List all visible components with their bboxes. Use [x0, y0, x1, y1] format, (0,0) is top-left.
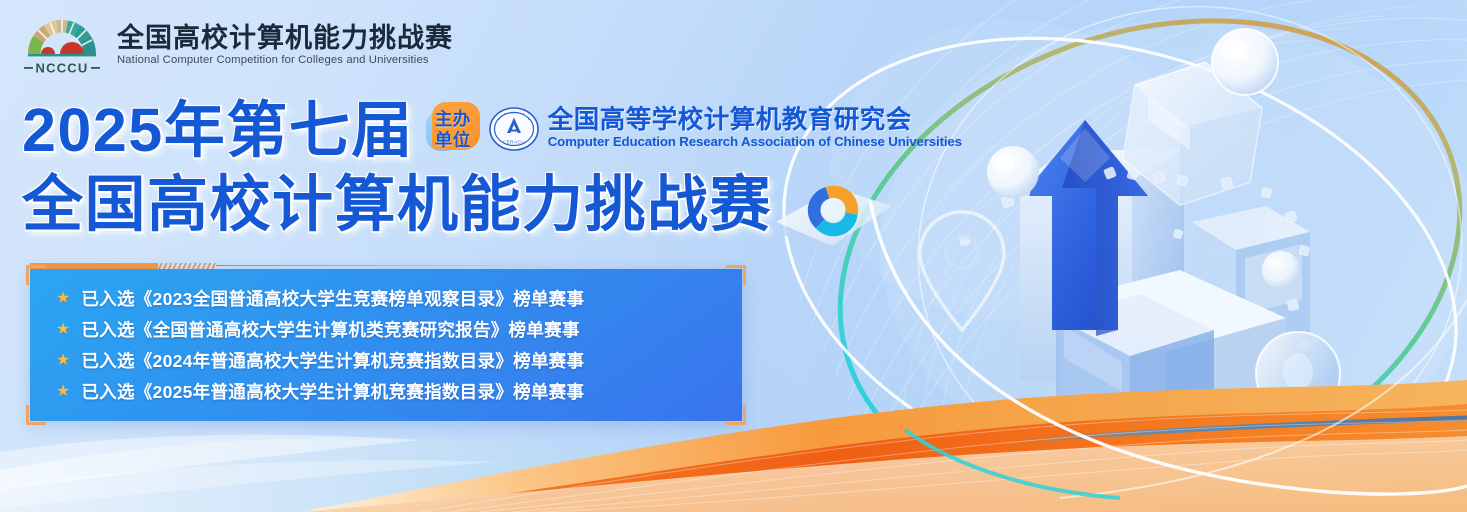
ncccu-sunburst-logo-icon: NCCCU [18, 12, 106, 76]
host-unit-badge: 主办 单位 [426, 102, 480, 156]
background-decoration-layer [0, 0, 1467, 512]
star-icon: ★ [56, 291, 70, 307]
highlights-panel: ★ 已入选《2023全国普通高校大学生竞赛榜单观察目录》榜单赛事 ★ 已入选《全… [30, 269, 742, 421]
host-badge-line1: 主办 [426, 111, 480, 129]
title-line-2: 全国高校计算机能力挑战赛 [22, 174, 962, 235]
star-icon: ★ [56, 353, 70, 369]
accent-bar-hairline [216, 265, 546, 266]
svg-text:CERACU: CERACU [503, 139, 525, 144]
header-title-en: National Computer Competition for Colleg… [117, 54, 453, 66]
highlights-panel-wrapper: ★ 已入选《2023全国普通高校大学生竞赛榜单观察目录》榜单赛事 ★ 已入选《全… [14, 262, 762, 426]
list-item: ★ 已入选《2023全国普通高校大学生竞赛榜单观察目录》榜单赛事 [56, 283, 728, 314]
association-name-group: 全国高等学校计算机教育研究会 Computer Education Resear… [548, 107, 962, 150]
association-seal-icon: CERACU [489, 104, 539, 154]
header-title-cn: 全国高校计算机能力挑战赛 [117, 24, 453, 53]
competition-banner: NCCCU 全国高校计算机能力挑战赛 National Computer Com… [0, 0, 1467, 512]
list-item: ★ 已入选《2024年普通高校大学生计算机竞赛指数目录》榜单赛事 [56, 345, 728, 376]
list-item: ★ 已入选《全国普通高校大学生计算机类竞赛研究报告》榜单赛事 [56, 314, 728, 345]
title-row-1: 2025年第七届 主办 单位 [22, 100, 962, 161]
panel-corner-top-right [726, 265, 746, 285]
list-item: ★ 已入选《2025年普通高校大学生计算机竞赛指数目录》榜单赛事 [56, 376, 728, 407]
association-name-cn: 全国高等学校计算机教育研究会 [548, 107, 962, 135]
panel-corner-bottom-right [726, 405, 746, 425]
list-item-label: 已入选《2025年普通高校大学生计算机竞赛指数目录》榜单赛事 [81, 379, 584, 404]
star-icon: ★ [56, 384, 70, 400]
highlights-list: ★ 已入选《2023全国普通高校大学生竞赛榜单观察目录》榜单赛事 ★ 已入选《全… [56, 283, 728, 407]
header-text-group: 全国高校计算机能力挑战赛 National Computer Competiti… [117, 22, 453, 66]
list-item-label: 已入选《2024年普通高校大学生计算机竞赛指数目录》榜单赛事 [81, 348, 584, 373]
list-item-label: 已入选《全国普通高校大学生计算机类竞赛研究报告》榜单赛事 [81, 317, 579, 342]
svg-text:NCCCU: NCCCU [36, 61, 89, 76]
panel-corner-top-left [26, 265, 46, 285]
organizer-group: 主办 单位 CERACU [426, 102, 962, 160]
list-item-label: 已入选《2023全国普通高校大学生竞赛榜单观察目录》榜单赛事 [81, 286, 584, 311]
title-line-1: 2025年第七届 [22, 100, 414, 161]
panel-corner-bottom-left [26, 405, 46, 425]
main-title-block: 2025年第七届 主办 单位 [22, 100, 962, 235]
association-name-en: Computer Education Research Association … [548, 135, 962, 150]
star-icon: ★ [56, 322, 70, 338]
host-badge-line2: 单位 [426, 132, 480, 150]
site-header: NCCCU 全国高校计算机能力挑战赛 National Computer Com… [18, 12, 453, 76]
